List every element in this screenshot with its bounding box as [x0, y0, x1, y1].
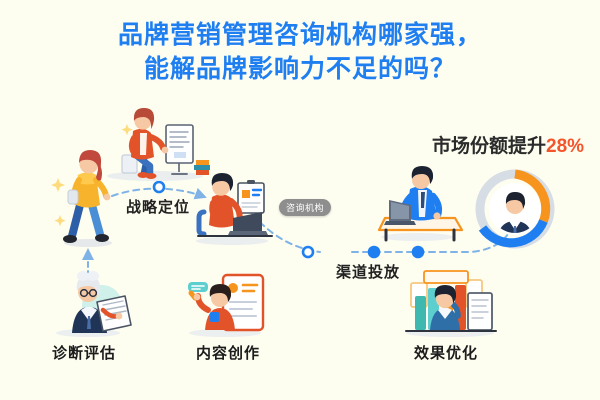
flow-node: [303, 247, 313, 257]
step-label-channel: 渠道投放: [336, 261, 400, 282]
kpi-value: 28%: [546, 136, 584, 157]
step-label-strategy: 战略定位: [126, 196, 190, 217]
page-title: 品牌营销管理咨询机构哪家强， 能解品牌影响力不足的吗？: [0, 18, 600, 86]
flow-node: [154, 182, 164, 192]
donut-chart: [480, 174, 550, 244]
bottom-label-diagnosis: 诊断评估: [52, 342, 116, 363]
bottom-label-content: 内容创作: [196, 342, 260, 363]
badge-label: 咨询机构: [286, 203, 324, 213]
bottom-label-optimize: 效果优化: [414, 342, 478, 363]
title-line-2: 能解品牌影响力不足的吗？: [0, 52, 600, 86]
status-badge-consulting-agency: 咨询机构: [279, 199, 331, 216]
kpi-label: 市场份额提升: [432, 136, 546, 157]
title-line-1: 品牌营销管理咨询机构哪家强，: [0, 18, 600, 52]
flow-node: [413, 247, 423, 257]
flow-node: [369, 247, 379, 257]
kpi-market-share: 市场份额提升28%: [432, 131, 584, 158]
